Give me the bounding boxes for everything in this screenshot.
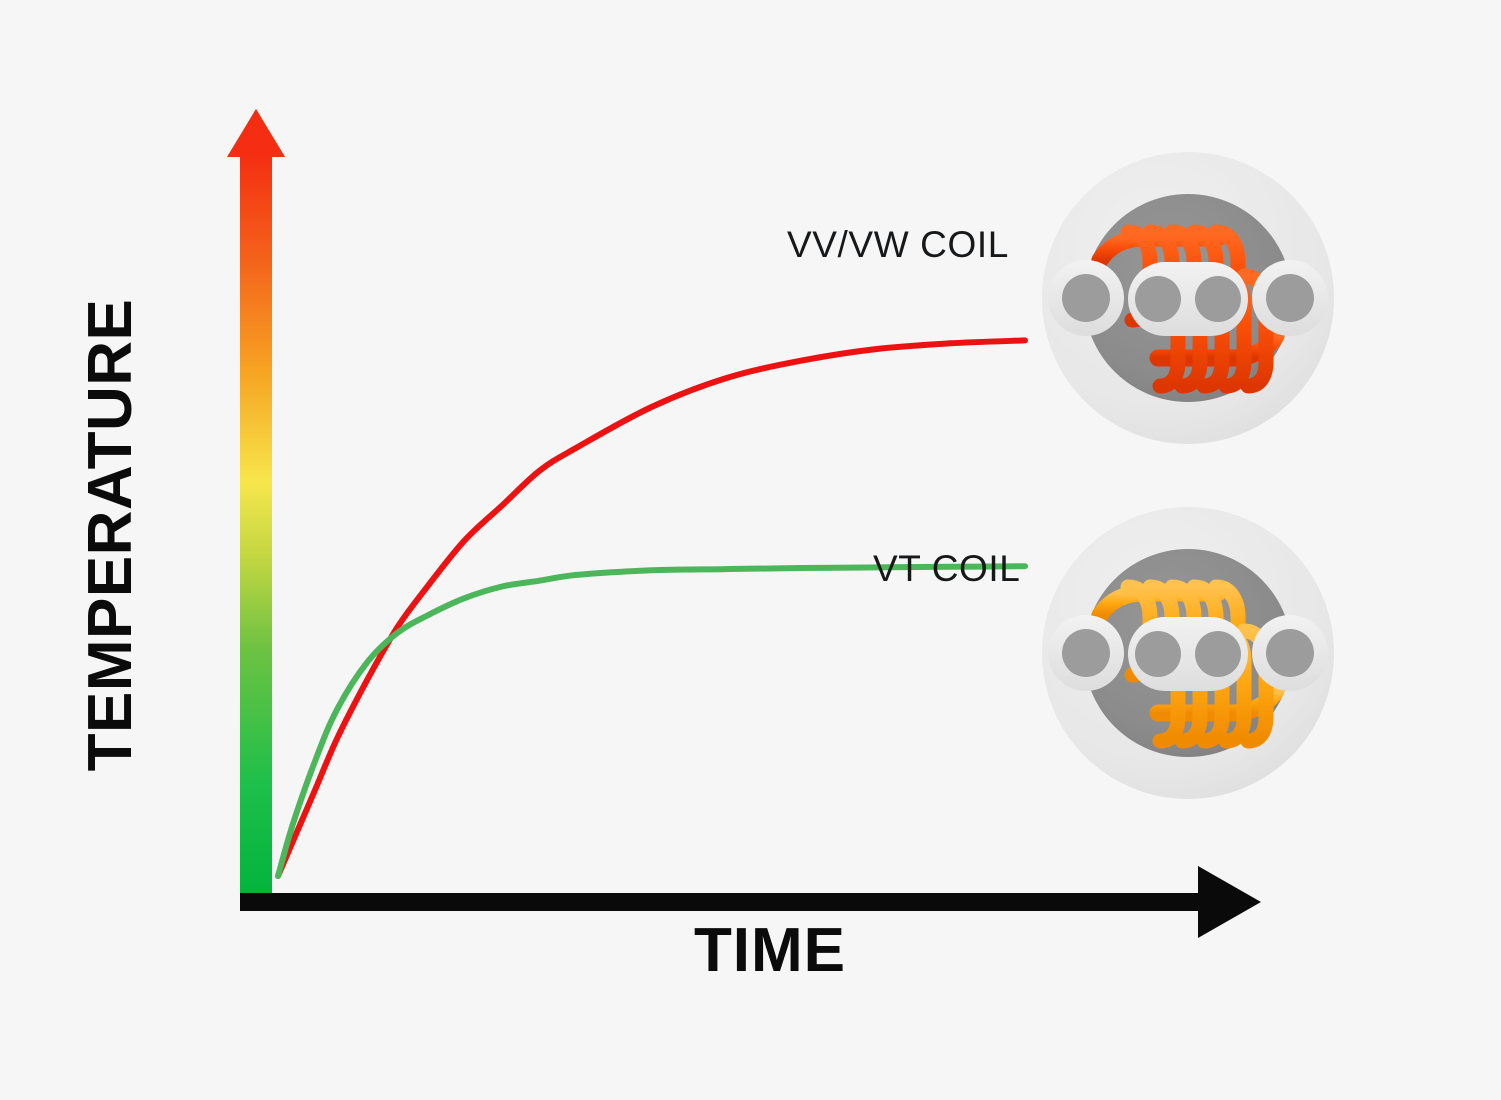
series-label-vv-vw-coil: VV/VW COIL [787,224,1009,266]
center-post-block [1128,617,1248,691]
y-axis-label: TEMPERATURE [75,235,145,835]
vv-vw-coil-icon [1040,150,1336,446]
temperature-axis-arrow [227,109,285,902]
series-curve-vv-vw [278,340,1025,876]
post-right [1252,615,1328,691]
post-left [1048,260,1124,336]
vt-coil-icon [1040,505,1336,801]
post-right [1252,260,1328,336]
x-axis-label: TIME [560,915,980,986]
series-curve-vt [278,566,1025,876]
center-post-block [1128,262,1248,336]
post-left [1048,615,1124,691]
series-label-vt-coil: VT COIL [873,548,1020,590]
chart-canvas: TEMPERATURE TIME VV/VW COIL VT COIL [0,0,1501,1100]
